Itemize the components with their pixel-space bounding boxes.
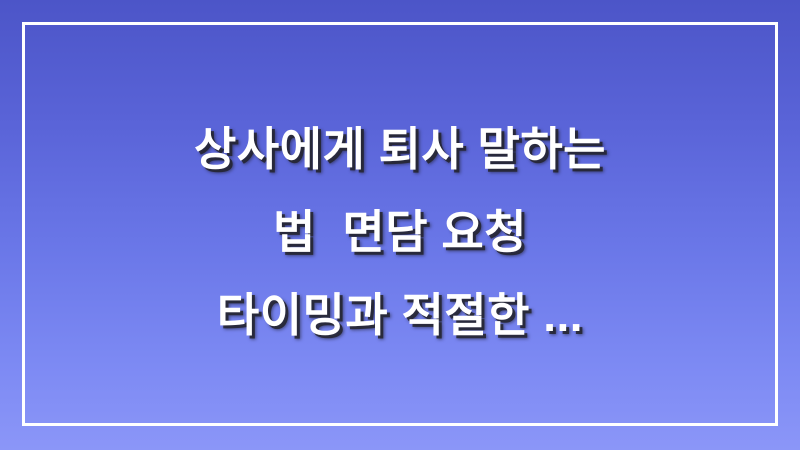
title-line-3: 타이밍과 적절한 ... xyxy=(0,274,800,357)
title-line-2: 법 면담 요청 xyxy=(0,191,800,274)
title-block: 상사에게 퇴사 말하는 법 면담 요청 타이밍과 적절한 ... xyxy=(0,108,800,357)
thumbnail-card: 상사에게 퇴사 말하는 법 면담 요청 타이밍과 적절한 ... xyxy=(0,0,800,450)
title-line-1: 상사에게 퇴사 말하는 xyxy=(0,108,800,191)
